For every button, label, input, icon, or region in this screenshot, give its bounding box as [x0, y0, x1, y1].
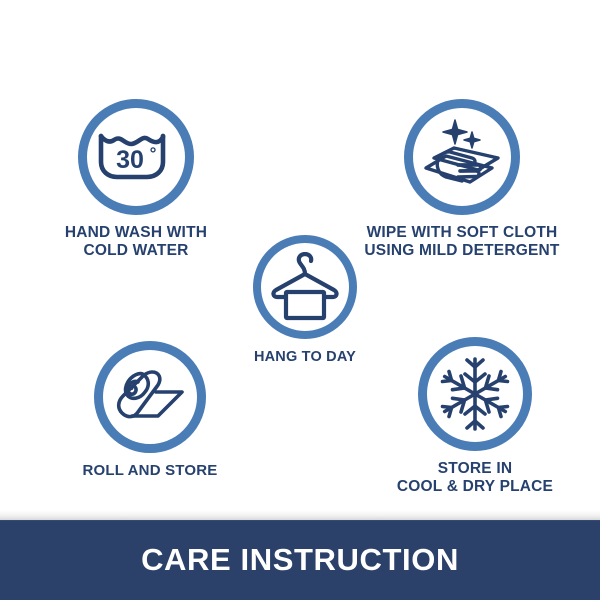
degree-symbol: ° — [150, 144, 157, 163]
care-item-hang-dry: HANG TO DAY — [230, 235, 380, 366]
wash-temperature-value: 30 — [116, 146, 144, 174]
snowflake-icon — [438, 356, 512, 432]
banner-title: CARE INSTRUCTION — [141, 542, 459, 578]
care-item-label-hang-dry: HANG TO DAY — [254, 349, 356, 366]
care-item-hand-wash: 30 ° HAND WASH WITH COLD WATER — [36, 99, 236, 261]
care-instruction-banner: CARE INSTRUCTION — [0, 520, 600, 600]
icon-ring-wipe-cloth — [404, 99, 520, 215]
clothes-hanger-towel-icon — [268, 252, 342, 322]
care-instruction-infographic: 30 ° HAND WASH WITH COLD WATER — [0, 0, 600, 600]
rolled-towel-icon — [110, 366, 190, 428]
hand-wiping-cloth-sparkle-icon — [420, 118, 504, 196]
wash-basin-30-degrees-icon: 30 ° — [97, 128, 175, 186]
care-item-wipe-cloth: WIPE WITH SOFT CLOTH USING MILD DETERGEN… — [362, 99, 562, 261]
icon-ring-hand-wash: 30 ° — [78, 99, 194, 215]
care-item-store-cool: STORE IN COOL & DRY PLACE — [375, 337, 575, 497]
care-item-roll-store: ROLL AND STORE — [55, 341, 245, 480]
icon-ring-roll-store — [94, 341, 206, 453]
banner-divider — [0, 510, 600, 520]
care-item-label-hand-wash: HAND WASH WITH COLD WATER — [65, 224, 207, 261]
icon-ring-store-cool — [418, 337, 532, 451]
care-item-label-wipe-cloth: WIPE WITH SOFT CLOTH USING MILD DETERGEN… — [364, 224, 559, 261]
icon-ring-hang-dry — [253, 235, 357, 339]
care-item-label-roll-store: ROLL AND STORE — [82, 462, 217, 480]
care-item-label-store-cool: STORE IN COOL & DRY PLACE — [397, 460, 553, 497]
